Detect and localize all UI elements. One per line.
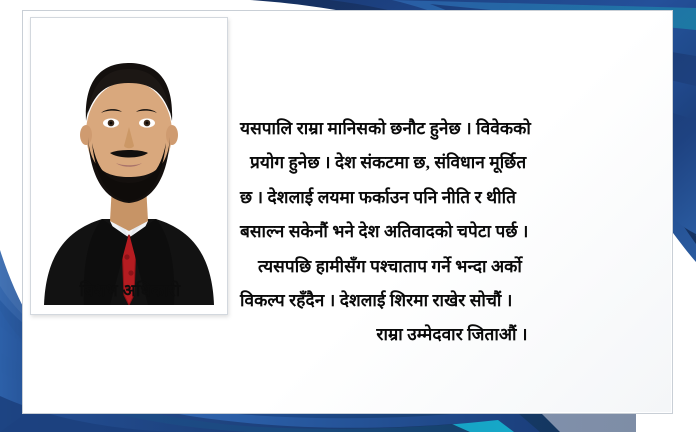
portrait-card xyxy=(30,17,228,315)
quote-line-5: त्यसपछि हामीसँग पश्चाताप गर्ने भन्दा अर्… xyxy=(240,250,664,284)
candidate-photo xyxy=(40,25,218,305)
election-message-poster: बिशभ अधिकारी यसपालि राम्रा मानिसको छनौट … xyxy=(0,0,696,432)
portrait-illustration xyxy=(40,25,218,305)
quote-text-block: यसपालि राम्रा मानिसको छनौट हुनेछ । विवेक… xyxy=(240,112,664,353)
quote-line-7: राम्रा उम्मेदवार जिताऔं । xyxy=(240,318,664,352)
quote-line-4: बसाल्न सकेनौं भने देश अतिवादको चपेटा पर्… xyxy=(240,215,664,249)
quote-line-1: यसपालि राम्रा मानिसको छनौट हुनेछ । विवेक… xyxy=(240,112,664,146)
quote-line-2: प्रयोग हुनेछ । देश संकटमा छ, संविधान मूर… xyxy=(240,146,664,180)
quote-line-3: छ । देशलाई लयमा फर्काउन पनि नीति र थीति xyxy=(240,181,664,215)
candidate-name: बिशभ अधिकारी xyxy=(30,278,230,301)
quote-line-6: विकल्प रहँदैन । देशलाई शिरमा राखेर सोचौं… xyxy=(240,284,664,318)
